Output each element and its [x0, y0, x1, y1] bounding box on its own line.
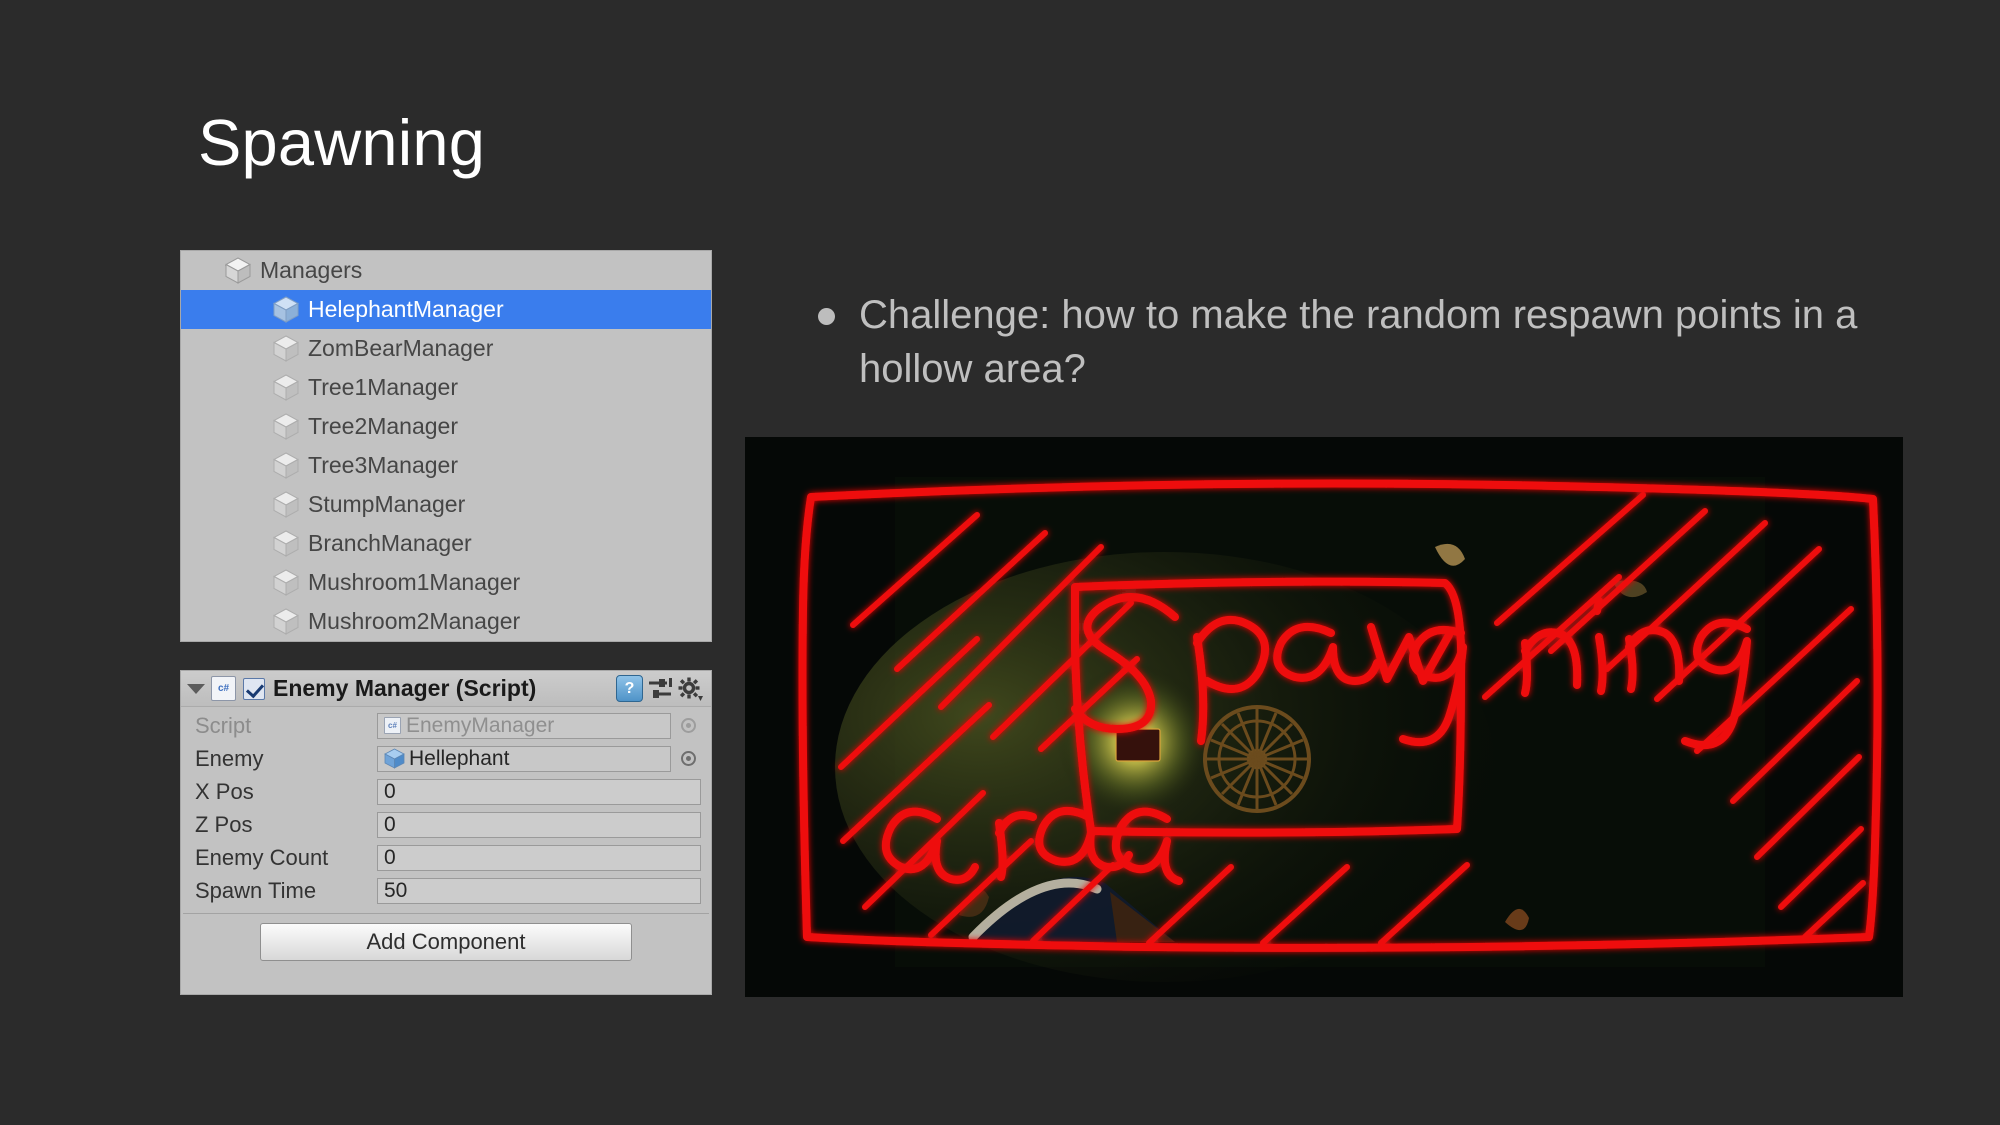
field-row-spawn-time[interactable]: Spawn Time 50 [181, 874, 711, 907]
hierarchy-item-label: Tree2Manager [308, 413, 458, 440]
hierarchy-row-mushroom2manager[interactable]: Mushroom2Manager [181, 602, 711, 641]
hierarchy-row-mushroom1manager[interactable]: Mushroom1Manager [181, 563, 711, 602]
hierarchy-row-branchmanager[interactable]: BranchManager [181, 524, 711, 563]
cs-script-icon: c# [211, 676, 236, 701]
hierarchy-item-label: StumpManager [308, 491, 465, 518]
enemy-count-input[interactable]: 0 [377, 845, 701, 871]
hierarchy-item-label: Tree1Manager [308, 374, 458, 401]
cube-icon [225, 257, 251, 284]
cube-icon [273, 491, 299, 518]
page-title: Spawning [198, 110, 485, 175]
cube-icon [273, 608, 299, 635]
hierarchy-row-helephantmanager[interactable]: HelephantManager [181, 290, 711, 329]
disclosure-triangle-icon[interactable] [187, 684, 205, 694]
x-pos-input[interactable]: 0 [377, 779, 701, 805]
cube-icon [273, 335, 299, 362]
hierarchy-item-label: HelephantManager [308, 296, 504, 323]
game-figure-canvas [745, 437, 1903, 997]
gear-icon[interactable] [677, 676, 703, 702]
field-label: Enemy Count [195, 845, 377, 871]
bullet-item-text: Challenge: how to make the random respaw… [859, 288, 1888, 396]
annotated-gameplay-screenshot [745, 437, 1903, 997]
spawn-time-input[interactable]: 50 [377, 878, 701, 904]
field-row-enemy-count[interactable]: Enemy Count 0 [181, 841, 711, 874]
component-fields: Script c# EnemyManager Enemy Hellephant [181, 707, 711, 994]
hierarchy-panel[interactable]: Managers HelephantManager ZomBearManager [180, 250, 712, 642]
prefab-cube-icon [384, 748, 405, 769]
hierarchy-row-zombearmanager[interactable]: ZomBearManager [181, 329, 711, 368]
field-label: Spawn Time [195, 878, 377, 904]
field-value: EnemyManager [406, 714, 554, 738]
z-pos-input[interactable]: 0 [377, 812, 701, 838]
field-label: Enemy [195, 746, 377, 772]
add-component-button[interactable]: Add Component [260, 923, 632, 961]
cube-icon [273, 374, 299, 401]
bullet-dot-icon [818, 308, 835, 325]
field-label: X Pos [195, 779, 377, 805]
hierarchy-row-stumpmanager[interactable]: StumpManager [181, 485, 711, 524]
object-picker-icon[interactable] [675, 718, 701, 733]
cube-icon [273, 452, 299, 479]
help-icon[interactable]: ? [616, 675, 643, 702]
component-enabled-checkbox[interactable] [243, 678, 265, 700]
component-title: Enemy Manager (Script) [273, 675, 536, 702]
add-component-row: Add Component [181, 914, 711, 970]
field-value: Hellephant [409, 747, 509, 771]
preset-icon[interactable] [647, 677, 673, 701]
enemy-object-field[interactable]: Hellephant [377, 746, 671, 772]
hierarchy-item-label: BranchManager [308, 530, 472, 557]
hierarchy-row-tree3manager[interactable]: Tree3Manager [181, 446, 711, 485]
field-row-enemy[interactable]: Enemy Hellephant [181, 742, 711, 775]
hierarchy-row-tree1manager[interactable]: Tree1Manager [181, 368, 711, 407]
bullet-list: Challenge: how to make the random respaw… [818, 288, 1888, 396]
field-row-z-pos[interactable]: Z Pos 0 [181, 808, 711, 841]
field-label: Script [195, 713, 377, 739]
component-header[interactable]: c# Enemy Manager (Script) ? [181, 671, 711, 707]
hierarchy-row-managers[interactable]: Managers [181, 251, 711, 290]
hierarchy-item-label: Mushroom2Manager [308, 608, 520, 635]
cube-icon [273, 569, 299, 596]
cube-icon [273, 530, 299, 557]
inspector-panel[interactable]: c# Enemy Manager (Script) ? [180, 670, 712, 995]
hierarchy-row-tree2manager[interactable]: Tree2Manager [181, 407, 711, 446]
field-row-x-pos[interactable]: X Pos 0 [181, 775, 711, 808]
prefab-cube-icon [273, 296, 299, 323]
cs-script-icon: c# [384, 717, 401, 734]
object-picker-icon[interactable] [675, 751, 701, 766]
hierarchy-item-label: Mushroom1Manager [308, 569, 520, 596]
hierarchy-item-label: Managers [260, 257, 362, 284]
hierarchy-item-label: Tree3Manager [308, 452, 458, 479]
hierarchy-item-label: ZomBearManager [308, 335, 493, 362]
script-object-field[interactable]: c# EnemyManager [377, 713, 671, 739]
cube-icon [273, 413, 299, 440]
field-label: Z Pos [195, 812, 377, 838]
field-row-script[interactable]: Script c# EnemyManager [181, 709, 711, 742]
